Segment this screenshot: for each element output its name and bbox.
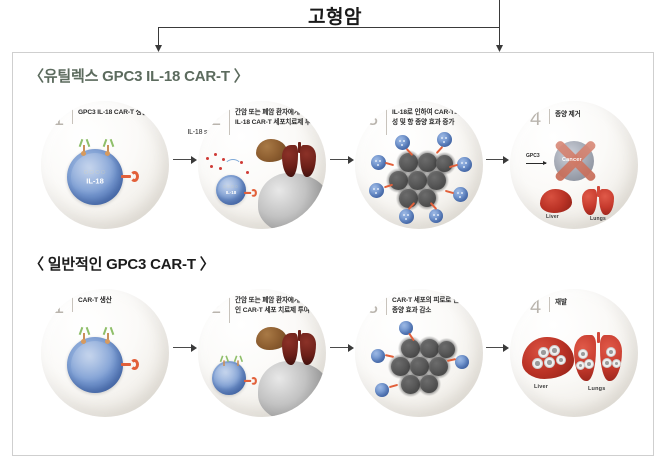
panel-s2-step-3: 3 CAR-T 세포의 피로로 인한 항 종양 효과 감소 <box>355 289 483 417</box>
diagram-title: 고형암 <box>0 2 670 29</box>
gpc3-label: GPC3 <box>526 153 540 160</box>
car-binding-icon <box>389 384 398 388</box>
liver-organ <box>540 189 572 213</box>
step-text: CAR-T 세포의 피로로 인한 항 종양 효과 감소 <box>392 296 478 315</box>
step-divider <box>386 297 387 315</box>
step-text: GPC3 IL-18 CAR-T 생산 <box>78 108 164 118</box>
step-divider <box>549 109 550 124</box>
car-t-cell-small <box>371 349 385 363</box>
receptor-base-icon <box>81 151 86 156</box>
car-t-cell <box>212 361 246 395</box>
step-divider <box>72 109 73 124</box>
car-t-cell-small <box>429 209 443 223</box>
panel-s2-step-2: 2 간암 또는 폐암 환자에게 일반적인 CAR-T 세포 치료제 투여 <box>198 289 326 417</box>
lungs-label: Lungs <box>588 386 606 392</box>
panel-s2-step-4: 4 재발 Liver <box>510 289 638 417</box>
panel-s1-step-2: 2 간암 또는 폐암 환자에게 GPC3 IL-18 CAR-T 세포치료제 투… <box>198 101 326 229</box>
step-number: 2 <box>210 109 221 129</box>
step-number: 2 <box>210 297 221 317</box>
car-t-cell <box>67 337 123 393</box>
step-divider <box>72 297 73 312</box>
tumor-cell <box>420 375 438 393</box>
arrow-2-to-3 <box>330 343 354 353</box>
arrow-3-to-4 <box>486 155 509 165</box>
cell-il18-label: IL-18 <box>223 190 239 195</box>
gpc3-pointer-arrow <box>526 163 546 164</box>
step-number: 1 <box>53 297 64 317</box>
secretion-arc <box>224 159 242 175</box>
top-connector-group: 고형암 <box>0 0 670 56</box>
car-binding-icon <box>385 354 394 358</box>
step-number: 4 <box>530 297 541 317</box>
step-number: 4 <box>530 109 541 129</box>
receptor-icon <box>79 327 89 340</box>
cancer-label: Cancer <box>562 157 582 163</box>
panel-s1-step-3: 3 IL-18로 인하여 CAR-T의 지속성 및 항 종양 효과 증가 <box>355 101 483 229</box>
car-binding-icon <box>385 162 394 166</box>
panel-s2-step-1: 1 CAR-T 생산 <box>41 289 169 417</box>
section-utilex: 〈유틸렉스 GPC3 IL-18 CAR-T 〉 IL-18 secretion… <box>13 65 655 250</box>
step-number: 1 <box>53 109 64 129</box>
tumor-mass <box>258 173 326 229</box>
il18-molecule <box>210 165 213 168</box>
panel-s1-step-1: 1 GPC3 IL-18 CAR-T 생산 ◌◌◌◌ IL-18 <box>41 101 169 229</box>
car-t-cell-small <box>369 183 384 198</box>
tumor-mass <box>258 361 326 417</box>
step-text: 종양 제거 <box>555 110 638 120</box>
il18-molecule <box>214 153 217 156</box>
receptor-base-icon <box>105 339 110 344</box>
dna-glyph: ◌◌◌◌ <box>83 169 106 177</box>
receptor-icon <box>103 139 113 152</box>
step-divider <box>229 297 230 323</box>
arrow-1-to-2 <box>173 155 197 165</box>
car-t-cell-small <box>399 209 414 224</box>
liver-label: Liver <box>546 214 559 220</box>
receptor-icon <box>79 139 89 152</box>
panel-s1-step-4: 4 종양 제거 Cancer GPC3 Liver Lungs <box>510 101 638 229</box>
lungs-organ <box>582 189 614 215</box>
step-divider <box>549 297 550 312</box>
step-text: 간암 또는 폐암 환자에게 GPC3 IL-18 CAR-T 세포치료제 투여 <box>235 108 321 127</box>
liver-organ <box>522 337 574 379</box>
section-1-panels: IL-18 secretion 1 GPC3 IL-18 CAR-T 생산 ◌◌… <box>13 93 655 243</box>
step-text: 간암 또는 폐암 환자에게 일반적인 CAR-T 세포 치료제 투여 <box>235 296 321 315</box>
step-text: IL-18로 인하여 CAR-T의 지속성 및 항 종양 효과 증가 <box>392 108 478 127</box>
car-t-cell-small <box>457 157 472 172</box>
step-number: 3 <box>367 109 378 129</box>
arrow-2-to-3 <box>330 155 354 165</box>
receptor-icon <box>234 356 242 366</box>
il18-molecule <box>246 171 249 174</box>
lungs-label: Lungs <box>590 216 606 222</box>
step-divider <box>386 109 387 135</box>
car-t-cell-small <box>399 321 413 335</box>
section-1-title: 〈유틸렉스 GPC3 IL-18 CAR-T 〉 <box>29 65 249 86</box>
car-t-cell: ◌◌◌◌ IL-18 <box>67 149 123 205</box>
receptor-icon <box>103 327 113 340</box>
step-number: 3 <box>367 297 378 317</box>
car-t-cell: ◌◌◌◌ IL-18 <box>216 175 246 205</box>
car-t-cell-small <box>437 132 452 147</box>
cell-inner-labels: ◌◌◌◌ IL-18 <box>223 185 239 195</box>
section-general: 〈 일반적인 GPC3 CAR-T 〉 1 CAR-T 생산 2 <box>13 253 655 448</box>
il18-molecule <box>219 167 222 170</box>
receptor-icon <box>220 356 228 366</box>
cell-il18-label: IL-18 <box>83 177 106 186</box>
lungs-organ <box>282 145 316 177</box>
car-t-cell-small <box>375 383 389 397</box>
liver-label: Liver <box>534 384 548 390</box>
section-2-panels: 1 CAR-T 생산 2 간암 또는 폐암 환자에게 일반적인 CAR-T 세포… <box>13 281 655 431</box>
arrow-1-to-2 <box>173 343 197 353</box>
il18-molecule <box>206 157 209 160</box>
lungs-organ <box>282 333 316 365</box>
car-t-cell-small <box>453 187 468 202</box>
cell-inner-labels: ◌◌◌◌ IL-18 <box>83 169 106 186</box>
step-text: CAR-T 생산 <box>78 296 164 306</box>
car-t-cell-small <box>371 155 386 170</box>
lungs-organ <box>574 335 622 381</box>
il18-molecule <box>222 158 225 161</box>
receptor-base-icon <box>105 151 110 156</box>
car-t-cell-small <box>455 355 469 369</box>
arrow-3-to-4 <box>486 343 509 353</box>
step-text: 재발 <box>555 298 638 308</box>
receptor-base-icon <box>81 339 86 344</box>
section-2-title: 〈 일반적인 GPC3 CAR-T 〉 <box>29 253 215 274</box>
diagram-frame: 〈유틸렉스 GPC3 IL-18 CAR-T 〉 IL-18 secretion… <box>12 52 654 456</box>
step-divider <box>229 109 230 135</box>
